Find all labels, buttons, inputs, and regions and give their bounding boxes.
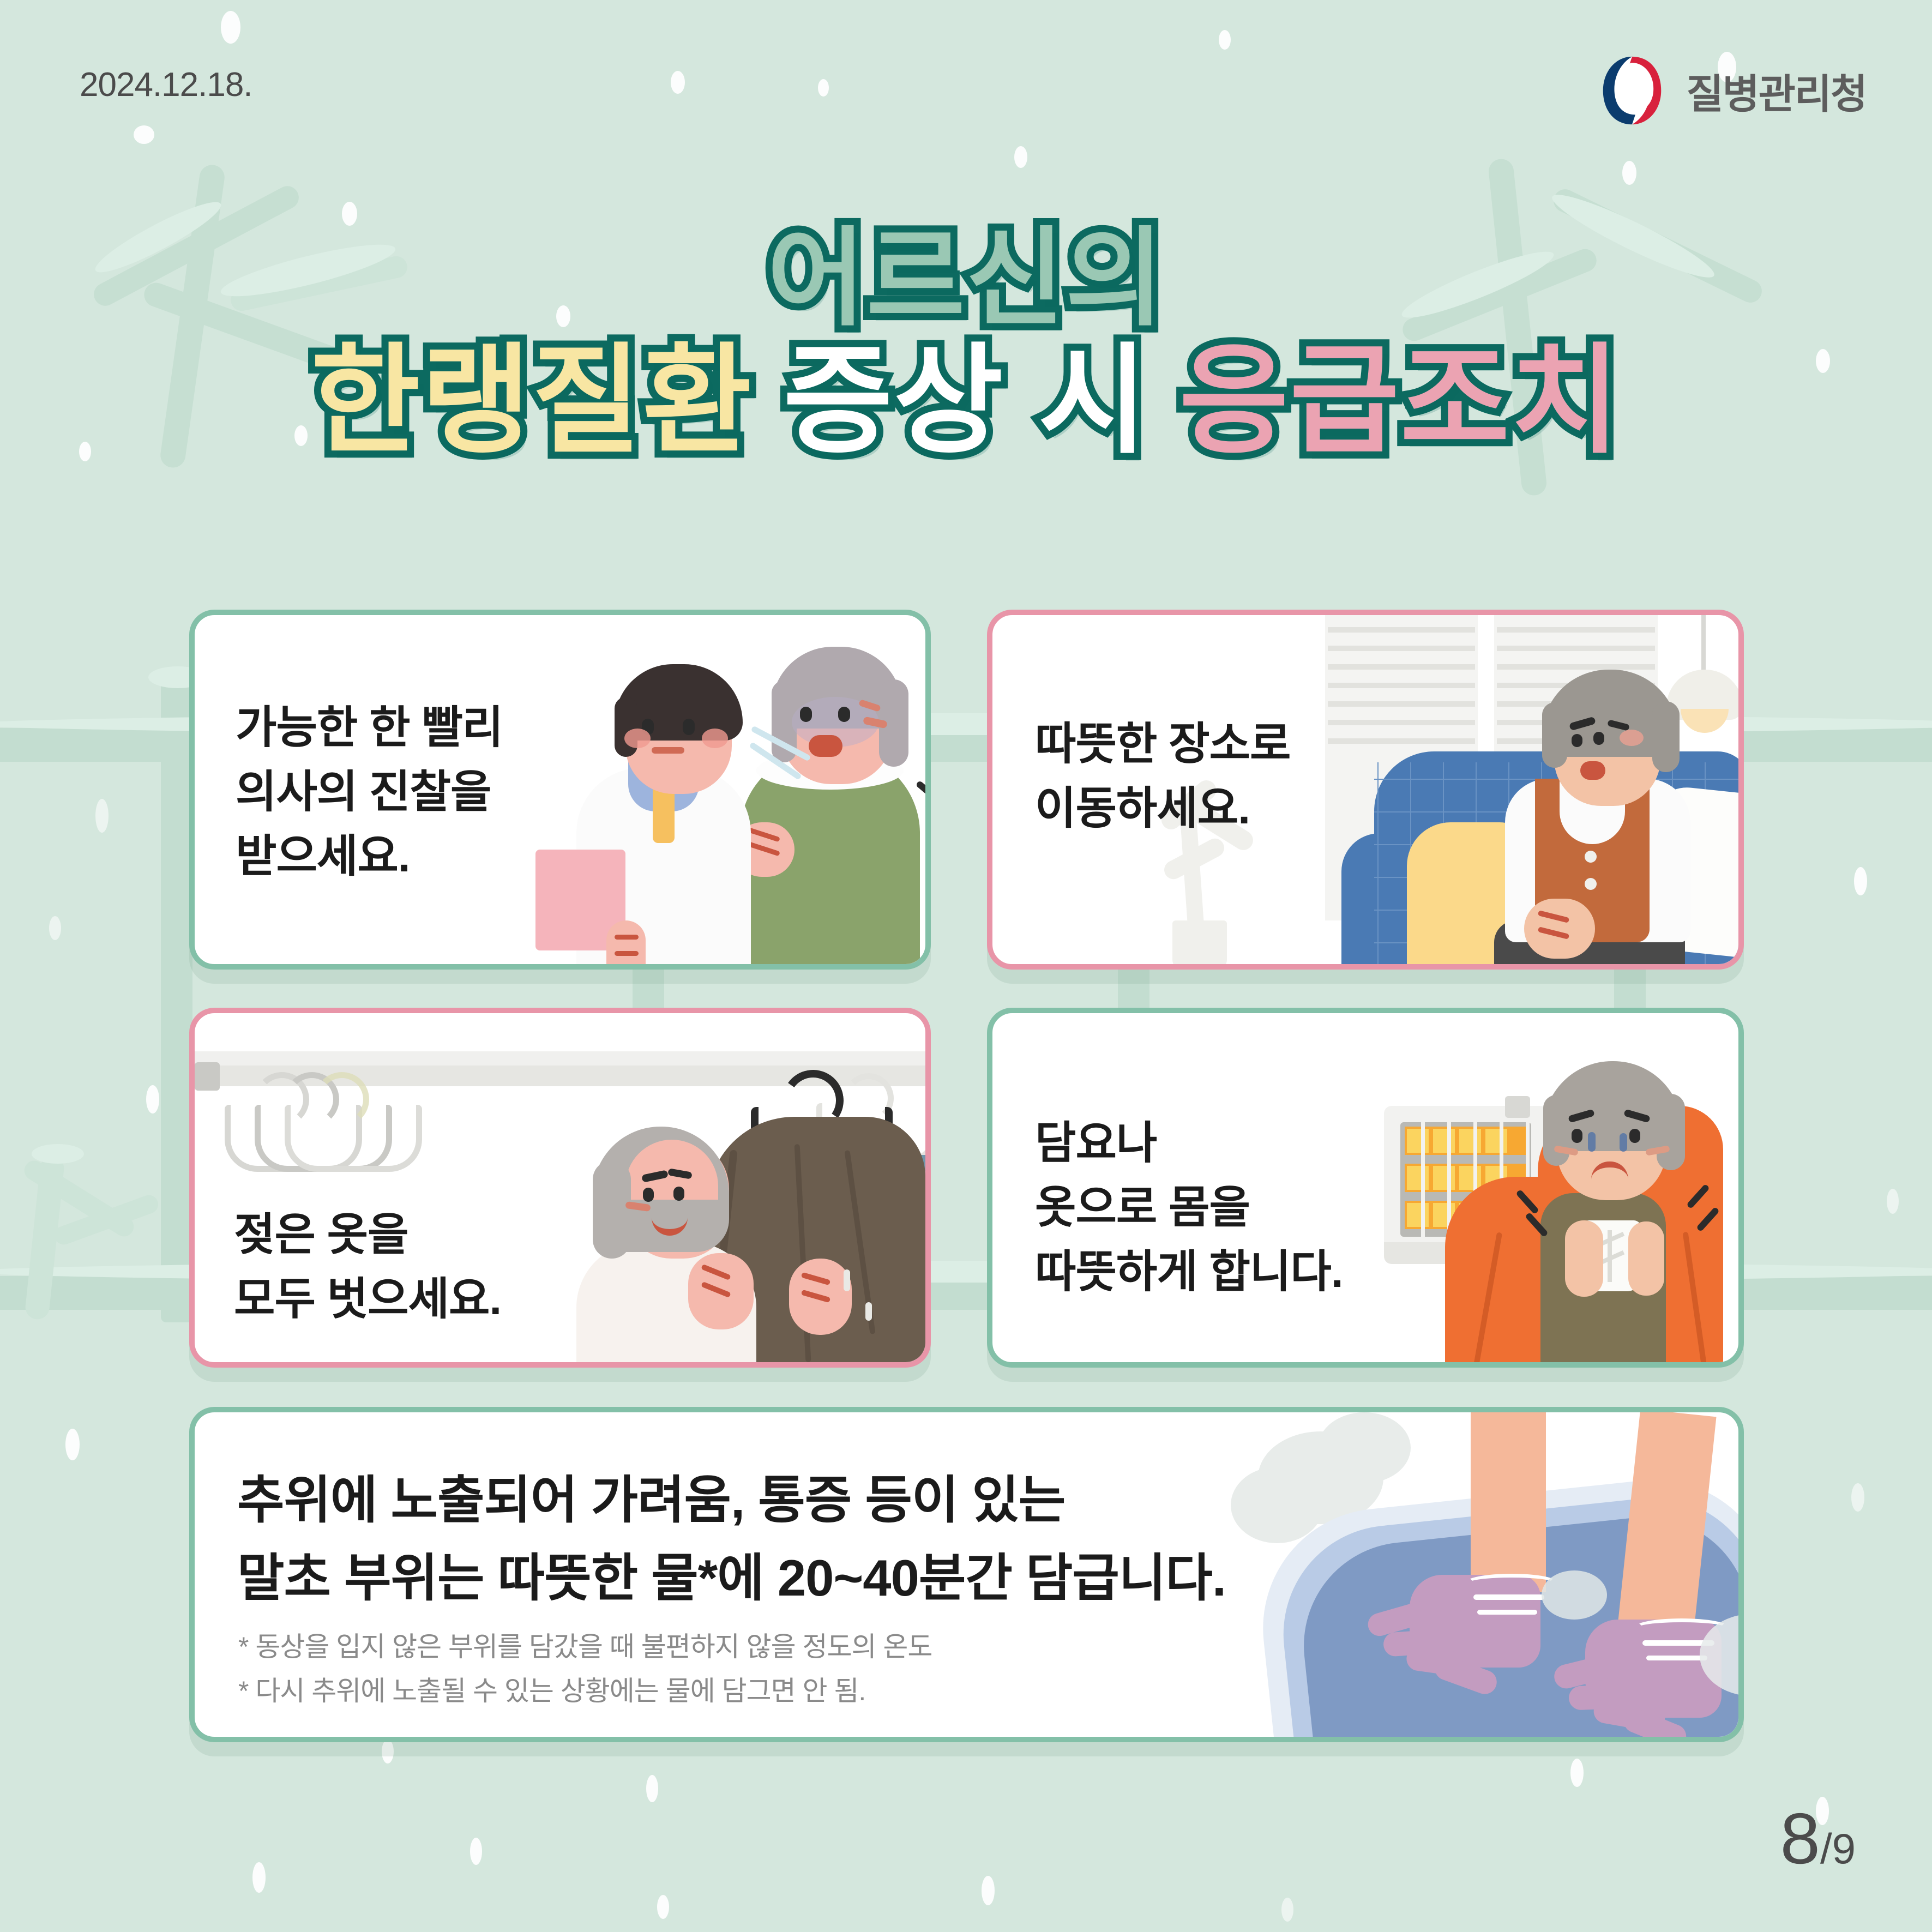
card-wet-clothes-line-2: 모두 벗으세요. (234, 1267, 501, 1332)
card-blanket-text: 담요나 옷으로 몸을 따뜻하게 합니다. (1035, 1111, 1343, 1304)
card-soak-note-1: * 동상을 입지 않은 부위를 담갔을 때 불편하지 않을 정도의 온도 (238, 1625, 932, 1669)
card-see-doctor-text: 가능한 한 빨리 의사의 진찰을 받으세요. (236, 696, 503, 889)
card-remove-wet-clothes[interactable]: 젖은 옷을 모두 벗으세요. (189, 1008, 931, 1368)
card-soak-line-2: 말초 부위는 따뜻한 물*에 20~40분간 담급니다. (237, 1539, 1226, 1617)
poster-title: 어르신의 한랭질환증상 시응급조치 (0, 224, 1932, 462)
card-see-doctor-line-2: 의사의 진찰을 (236, 760, 503, 824)
card-see-doctor-line-3: 받으세요. (236, 824, 503, 889)
card-soak-extremities[interactable]: 추위에 노출되어 가려움, 통증 등이 있는 말초 부위는 따뜻한 물*에 20… (189, 1407, 1744, 1742)
card-see-doctor[interactable]: 가능한 한 빨리 의사의 진찰을 받으세요. (189, 610, 931, 970)
card-blanket-line-2: 옷으로 몸을 (1035, 1176, 1343, 1240)
title-keyword-symptom: 증상 시 (783, 340, 1148, 463)
card-soak-note-2: * 다시 추위에 노출될 수 있는 상황에는 물에 담그면 안 됨. (238, 1669, 932, 1713)
page-indicator: 8/9 (1780, 1797, 1856, 1880)
page-current: 8 (1780, 1798, 1820, 1879)
card-soak-text: 추위에 노출되어 가려움, 통증 등이 있는 말초 부위는 따뜻한 물*에 20… (237, 1461, 1226, 1617)
title-keyword-firstaid: 응급조치 (1179, 340, 1621, 463)
card-move-to-warm-place[interactable]: 따뜻한 장소로 이동하세요. (987, 610, 1744, 970)
card-soak-notes: * 동상을 입지 않은 부위를 담갔을 때 불편하지 않을 정도의 온도 * 다… (238, 1625, 932, 1713)
poster-canvas: 2024.12.18. 질병관리청 어르신의 한랭질환증상 시응급조치 (0, 0, 1932, 1932)
card-blanket-line-1: 담요나 (1035, 1111, 1343, 1176)
card-blanket-line-3: 따뜻하게 합니다. (1035, 1240, 1343, 1304)
title-keyword-hypothermia: 한랭질환 (311, 340, 753, 463)
publish-date: 2024.12.18. (80, 65, 252, 104)
card-wet-clothes-text: 젖은 옷을 모두 벗으세요. (234, 1203, 501, 1332)
card-soak-line-1: 추위에 노출되어 가려움, 통증 등이 있는 (237, 1461, 1226, 1539)
card-see-doctor-line-1: 가능한 한 빨리 (236, 696, 503, 760)
card-wet-clothes-line-1: 젖은 옷을 (234, 1203, 501, 1267)
korea-government-taegeuk-icon (1592, 50, 1672, 131)
card-warm-place-line-2: 이동하세요. (1035, 777, 1290, 841)
agency-name: 질병관리청 (1687, 62, 1867, 120)
card-warm-with-blanket[interactable]: 담요나 옷으로 몸을 따뜻하게 합니다. (987, 1008, 1744, 1368)
card-warm-place-line-1: 따뜻한 장소로 (1035, 712, 1290, 777)
page-total: /9 (1820, 1825, 1856, 1873)
title-line-1: 어르신의 (767, 224, 1165, 334)
card-warm-place-text: 따뜻한 장소로 이동하세요. (1035, 712, 1290, 841)
agency-logo: 질병관리청 (1592, 50, 1867, 131)
